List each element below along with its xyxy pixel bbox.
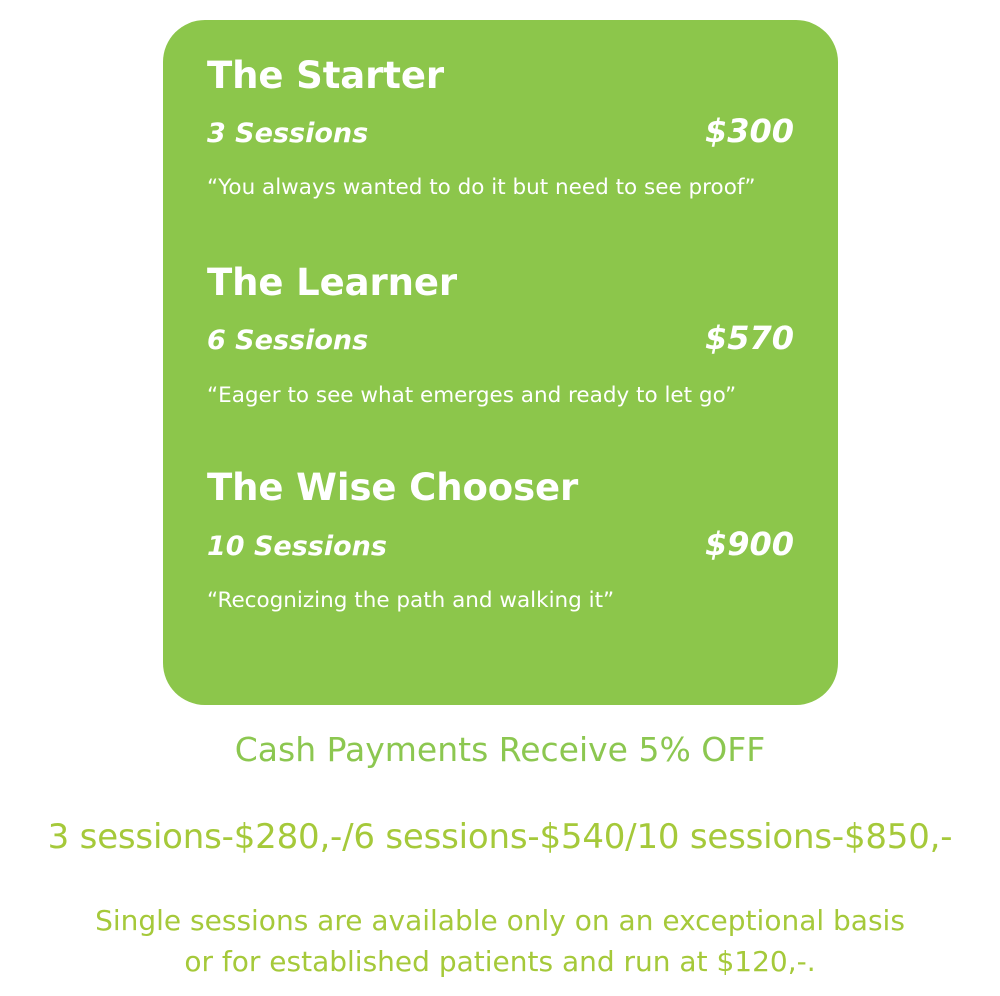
cash-discount-pricing-line: 3 sessions-$280,-/6 sessions-$540/10 ses… (0, 770, 1000, 858)
pricing-page: The Starter 3 Sessions $300 “You always … (0, 0, 1000, 996)
tier-sessions-price-row: 3 Sessions $300 (207, 114, 810, 149)
pricing-tier-starter: The Starter 3 Sessions $300 “You always … (207, 56, 810, 201)
tier-sessions: 6 Sessions (207, 326, 368, 356)
single-session-note-line-2: or for established patients and run at $… (0, 942, 1000, 983)
tier-sessions: 10 Sessions (207, 532, 387, 562)
tier-price: $570 (705, 321, 794, 356)
tier-sessions: 3 Sessions (207, 119, 368, 149)
single-session-note: Single sessions are available only on an… (0, 857, 1000, 982)
tier-price: $300 (705, 114, 794, 149)
tier-quote: “Eager to see what emerges and ready to … (207, 383, 810, 409)
tier-sessions-price-row: 10 Sessions $900 (207, 527, 810, 562)
cash-payment-note: Cash Payments Receive 5% OFF (0, 722, 1000, 770)
footer-notes: Cash Payments Receive 5% OFF 3 sessions-… (0, 722, 1000, 983)
single-session-note-line-1: Single sessions are available only on an… (0, 901, 1000, 942)
pricing-card: The Starter 3 Sessions $300 “You always … (163, 20, 838, 705)
tier-quote: “You always wanted to do it but need to … (207, 175, 810, 201)
tier-title: The Wise Chooser (207, 468, 810, 507)
tier-price: $900 (705, 527, 794, 562)
tier-quote: “Recognizing the path and walking it” (207, 588, 810, 614)
tier-sessions-price-row: 6 Sessions $570 (207, 321, 810, 356)
tier-title: The Starter (207, 56, 810, 95)
tier-title: The Learner (207, 263, 810, 302)
pricing-tier-learner: The Learner 6 Sessions $570 “Eager to se… (207, 263, 810, 408)
pricing-tier-wise-chooser: The Wise Chooser 10 Sessions $900 “Recog… (207, 468, 810, 613)
